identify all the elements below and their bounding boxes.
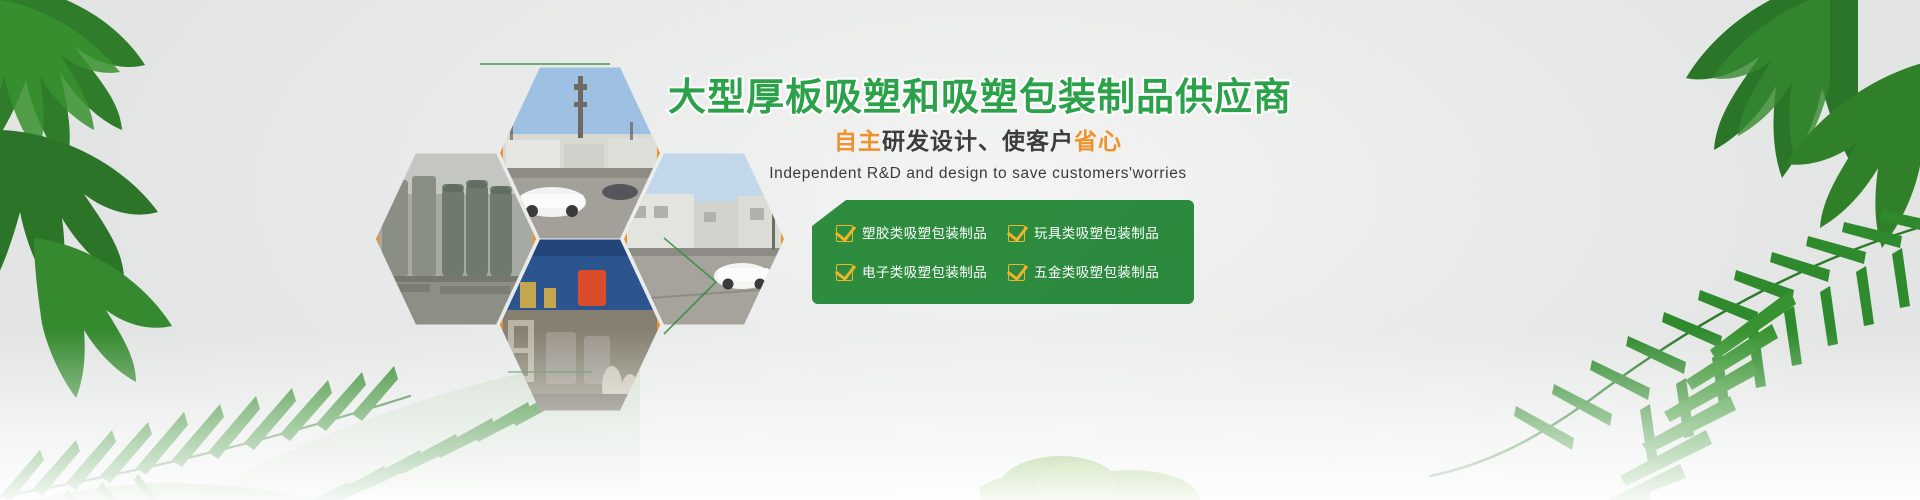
check-box-icon <box>1008 264 1025 281</box>
check-box-icon <box>836 264 853 281</box>
foliage-right-monstera-top <box>1500 0 1860 274</box>
subtitle-chinese: 自主研发设计、使客户省心 <box>668 128 1288 156</box>
page-title: 大型厚板吸塑和吸塑包装制品供应商 <box>668 76 1288 118</box>
foliage-bottom-left-grass <box>0 420 360 500</box>
foliage-right-palm-frond <box>1390 180 1920 480</box>
subtitle-english: Independent R&D and design to save custo… <box>668 164 1288 184</box>
feature-item-toys[interactable]: 玩具类吸塑包装制品 <box>1008 225 1180 242</box>
foliage-right-monstera-lower <box>1660 40 1920 320</box>
foliage-left-small-leaf <box>30 230 230 410</box>
hero-banner: 大型厚板吸塑和吸塑包装制品供应商 自主研发设计、使客户省心 Independen… <box>0 0 1920 500</box>
headline-block: 大型厚板吸塑和吸塑包装制品供应商 自主研发设计、使客户省心 Independen… <box>668 76 1288 184</box>
bottom-fade-overlay <box>0 330 1920 500</box>
foliage-right-fan-palm <box>1380 260 1800 500</box>
feature-label: 玩具类吸塑包装制品 <box>1034 226 1159 242</box>
foliage-bottom-center-shrub <box>980 400 1300 500</box>
feature-item-hardware[interactable]: 五金类吸塑包装制品 <box>1008 264 1180 281</box>
foliage-left-monstera <box>0 0 310 310</box>
subtitle-middle: 研发设计、使客户 <box>882 129 1074 155</box>
feature-item-plastic[interactable]: 塑胶类吸塑包装制品 <box>836 225 1008 242</box>
feature-label: 塑胶类吸塑包装制品 <box>862 226 987 242</box>
foliage-left-leaf-large <box>0 90 270 370</box>
feature-item-electronics[interactable]: 电子类吸塑包装制品 <box>836 264 1008 281</box>
feature-label: 电子类吸塑包装制品 <box>862 265 987 281</box>
feature-label: 五金类吸塑包装制品 <box>1034 265 1159 281</box>
subtitle-highlight-end: 省心 <box>1074 129 1122 155</box>
feature-grid: 塑胶类吸塑包装制品 玩具类吸塑包装制品 电子类吸塑包装制品 五金类吸塑包装制品 <box>812 200 1194 304</box>
check-box-icon <box>1008 225 1025 242</box>
subtitle-highlight-start: 自主 <box>834 129 882 155</box>
feature-panel: 塑胶类吸塑包装制品 玩具类吸塑包装制品 电子类吸塑包装制品 五金类吸塑包装制品 <box>812 200 1194 304</box>
check-box-icon <box>836 225 853 242</box>
